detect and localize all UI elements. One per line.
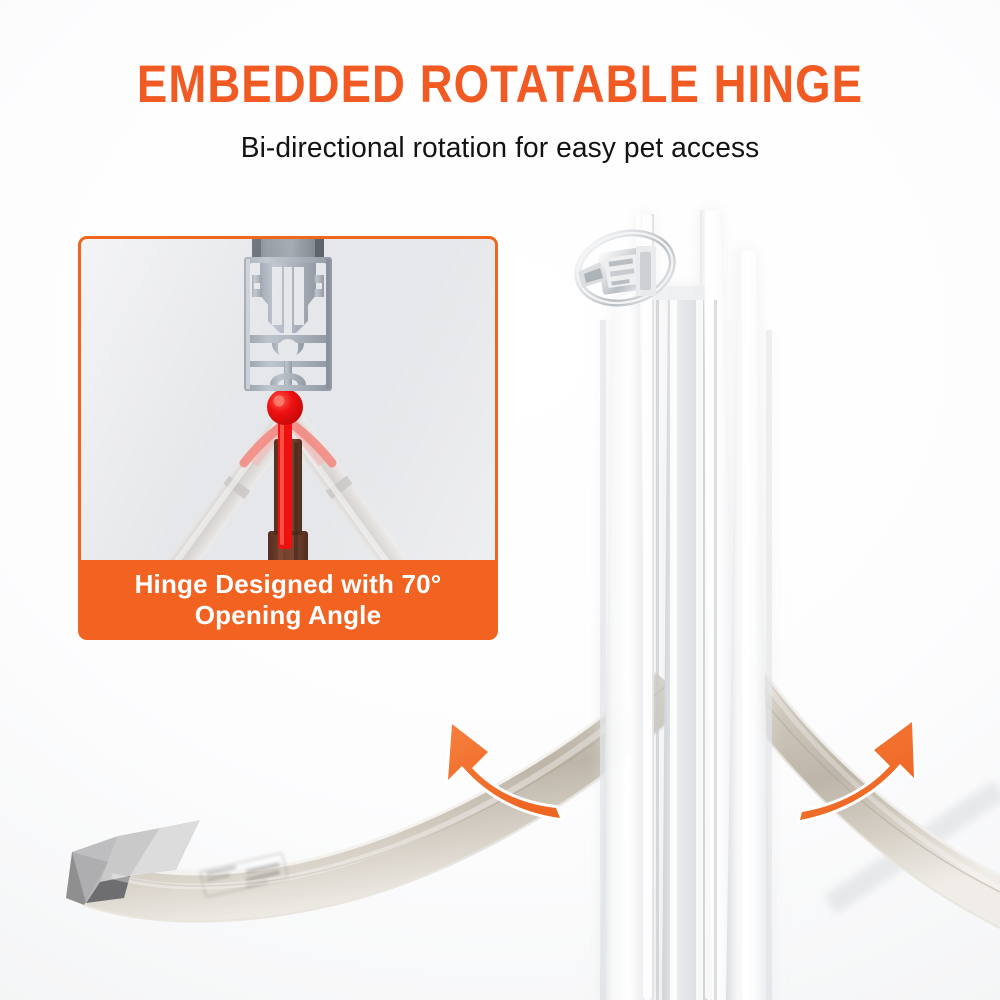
red-pivot-stem xyxy=(278,409,292,549)
caption-line-2: Opening Angle xyxy=(195,600,382,630)
white-vertical-post xyxy=(600,210,772,1000)
header: EMBEDDED ROTATABLE HINGE Bi-directional … xyxy=(0,58,1000,165)
page-title: EMBEDDED ROTATABLE HINGE xyxy=(70,58,930,111)
page-subtitle: Bi-directional rotation for easy pet acc… xyxy=(15,132,985,165)
caption-line-1: Hinge Designed with 70° xyxy=(135,569,442,599)
curved-flexible-panel-left xyxy=(66,672,690,922)
aluminum-rail-cross-section xyxy=(208,239,368,421)
hinge-diagram-card: Hinge Designed with 70° Opening Angle xyxy=(78,236,498,640)
product-feature-image: EMBEDDED ROTATABLE HINGE Bi-directional … xyxy=(0,0,1000,1000)
diagram-caption-text: Hinge Designed with 70° Opening Angle xyxy=(135,569,442,630)
diagram-caption-bar: Hinge Designed with 70° Opening Angle xyxy=(81,560,495,640)
